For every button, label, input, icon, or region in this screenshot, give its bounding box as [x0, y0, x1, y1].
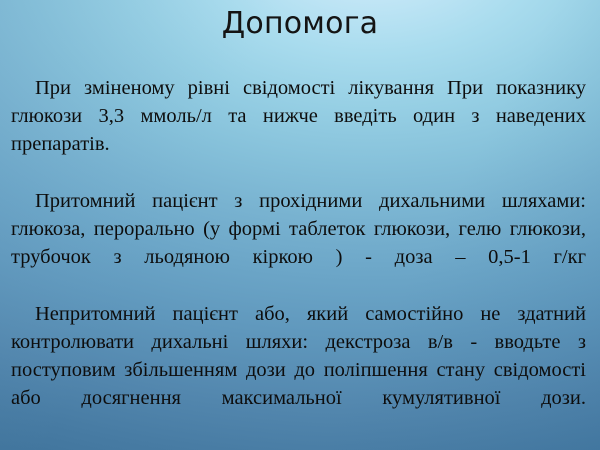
body-paragraph-2: Притомний пацієнт з прохідними дихальним…	[11, 187, 586, 300]
slide-body-placeholder: При зміненому рівні свідомості лікування…	[11, 74, 586, 441]
page-title: Допомога	[222, 6, 379, 42]
body-paragraph-3: Непритомний пацієнт або, який самостійно…	[11, 300, 586, 441]
presentation-slide: Допомога При зміненому рівні свідомості …	[0, 0, 600, 450]
slide-title-placeholder: Допомога	[0, 6, 600, 48]
body-paragraph-1: При зміненому рівні свідомості лікування…	[11, 74, 586, 187]
